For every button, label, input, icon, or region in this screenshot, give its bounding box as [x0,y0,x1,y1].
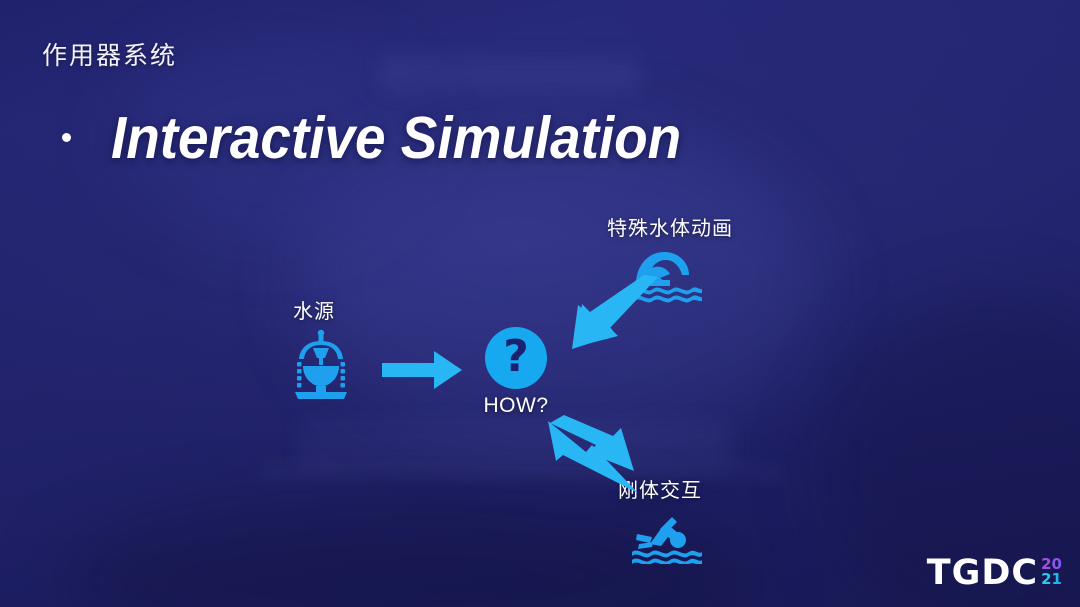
fountain-icon [275,328,367,400]
arrow-up-left-icon [546,415,654,497]
arrow-down-left-icon [552,275,662,353]
node-label-water-source: 水源 [293,295,335,324]
tgdc-wordmark: TGDC [927,556,1038,591]
tgdc-year: 20 21 [1041,557,1062,588]
arrow-right-icon [382,348,464,392]
tgdc-logo: TGDC 20 21 [927,556,1062,591]
question-circle-icon: ? [485,327,547,389]
node-label-how: HOW? [481,394,551,418]
node-label-special-water-animation: 特殊水体动画 [607,212,733,241]
interactive-simulation-diagram: 水源 [0,0,1080,607]
question-mark-glyph: ? [503,335,529,379]
swimmer-icon [630,512,704,564]
tgdc-year-bottom: 21 [1041,572,1062,587]
presentation-slide: 作用器系统 Interactive Simulation 水源 [0,0,1080,607]
